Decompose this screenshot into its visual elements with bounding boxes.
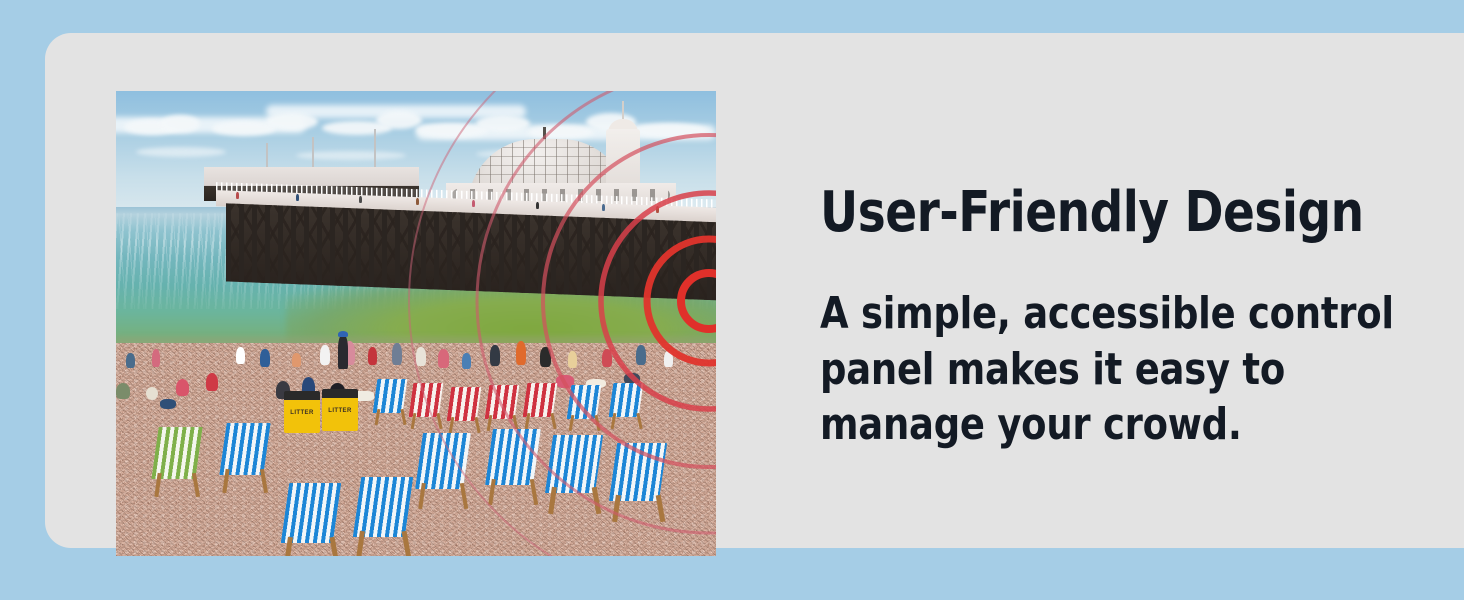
promo-banner: LITTER LITTER <box>0 0 1464 600</box>
deckchair-canvas <box>151 427 202 479</box>
beachgoer <box>292 353 301 367</box>
deckchair-leg <box>594 415 600 431</box>
cloud <box>160 115 200 133</box>
deckchair-leg <box>530 479 538 505</box>
deckchair-canvas <box>523 383 558 417</box>
beachgoer <box>392 343 402 365</box>
beachgoer <box>462 353 471 369</box>
pier-pedestrian <box>296 194 299 201</box>
deckchair-canvas <box>485 429 541 485</box>
beachgoer <box>636 345 646 365</box>
deckchair-canvas <box>447 387 482 421</box>
beachgoer-seated <box>176 379 189 396</box>
pier-pedestrian <box>359 196 362 203</box>
beachgoer <box>438 349 449 368</box>
deckchair <box>408 383 446 429</box>
beach-photo: LITTER LITTER <box>116 91 716 556</box>
deckchair <box>546 435 604 513</box>
body-line: A simple, accessible control <box>820 286 1341 341</box>
deckchair <box>152 427 204 497</box>
pier-pedestrian <box>416 198 419 205</box>
pier-mast <box>312 137 314 171</box>
deckchair <box>446 387 484 433</box>
deckchair-leg <box>192 473 200 497</box>
body-line: panel makes it easy to <box>820 342 1341 397</box>
litter-bin-label: LITTER <box>322 408 358 414</box>
deckchair-leg <box>400 409 406 425</box>
deckchair-canvas <box>373 379 408 413</box>
content-card: LITTER LITTER <box>45 33 1464 548</box>
beach-photo-scene: LITTER LITTER <box>116 91 716 556</box>
deckchair <box>220 423 272 493</box>
deckchair-leg <box>260 469 268 493</box>
deckchair-leg <box>402 531 412 556</box>
deckchair-canvas <box>567 385 602 419</box>
body-text: A simple, accessible control panel makes… <box>820 242 1341 452</box>
pier-pedestrian <box>656 206 659 213</box>
beachgoer-seated <box>116 383 130 399</box>
deckchair-leg <box>460 483 468 509</box>
beachgoer <box>540 347 551 367</box>
beachgoer <box>368 347 377 365</box>
deckchair-canvas <box>485 385 520 419</box>
deckchair-canvas <box>409 383 444 417</box>
beachgoer <box>152 349 160 367</box>
photographer-cap <box>338 331 348 337</box>
beachgoer <box>320 345 330 365</box>
deckchair <box>486 429 542 505</box>
beachgoer <box>490 345 500 366</box>
deckchair-leg <box>474 417 480 433</box>
beachgoer <box>236 347 245 364</box>
deckchair-canvas <box>353 477 413 537</box>
beach-bag <box>160 399 176 409</box>
beachgoer <box>516 341 526 365</box>
pier-pedestrian <box>602 204 605 211</box>
deckchair-canvas <box>545 435 603 493</box>
pier-pedestrian <box>472 200 475 207</box>
body-line: manage your crowd. <box>820 397 1341 452</box>
deckchair-leg <box>656 495 666 522</box>
beachgoer <box>260 349 270 367</box>
litter-bin: LITTER <box>284 391 320 433</box>
deckchair <box>354 477 414 556</box>
text-column: User-Friendly Design A simple, accessibl… <box>820 183 1440 453</box>
deckchair <box>566 385 604 431</box>
litter-bin-label: LITTER <box>284 410 320 416</box>
deckchair-leg <box>436 413 442 429</box>
deckchair-canvas <box>609 443 667 501</box>
beachgoer <box>416 347 426 366</box>
deckchair-leg <box>550 413 556 429</box>
pier-mast <box>374 129 376 171</box>
beachgoer-seated <box>146 387 158 400</box>
pier-pedestrian <box>536 202 539 209</box>
deckchair-canvas <box>609 383 644 417</box>
cloud <box>266 113 318 130</box>
deckchair <box>416 433 472 509</box>
page-title: User-Friendly Design <box>820 183 1341 242</box>
cloud <box>136 147 226 157</box>
deckchair-leg <box>592 487 602 514</box>
deckchair <box>608 383 646 429</box>
litter-bin: LITTER <box>322 389 358 431</box>
beachgoer <box>664 351 673 367</box>
beachgoer <box>602 349 612 367</box>
deckchair <box>522 383 560 429</box>
deckchair <box>610 443 668 521</box>
deckchair <box>372 379 410 425</box>
pier-pedestrian <box>236 192 239 199</box>
cloud <box>376 111 422 129</box>
deckchair-canvas <box>281 483 341 543</box>
deckchair-leg <box>636 413 642 429</box>
deckchair <box>484 385 522 431</box>
standing-photographer <box>338 335 348 369</box>
beachgoer <box>568 351 577 368</box>
deckchair-canvas <box>415 433 471 489</box>
beachgoer <box>126 353 135 368</box>
deckchair-leg <box>330 537 340 556</box>
deckchair-canvas <box>219 423 270 475</box>
beachgoer-seated <box>206 373 218 391</box>
deckchair <box>282 483 342 556</box>
